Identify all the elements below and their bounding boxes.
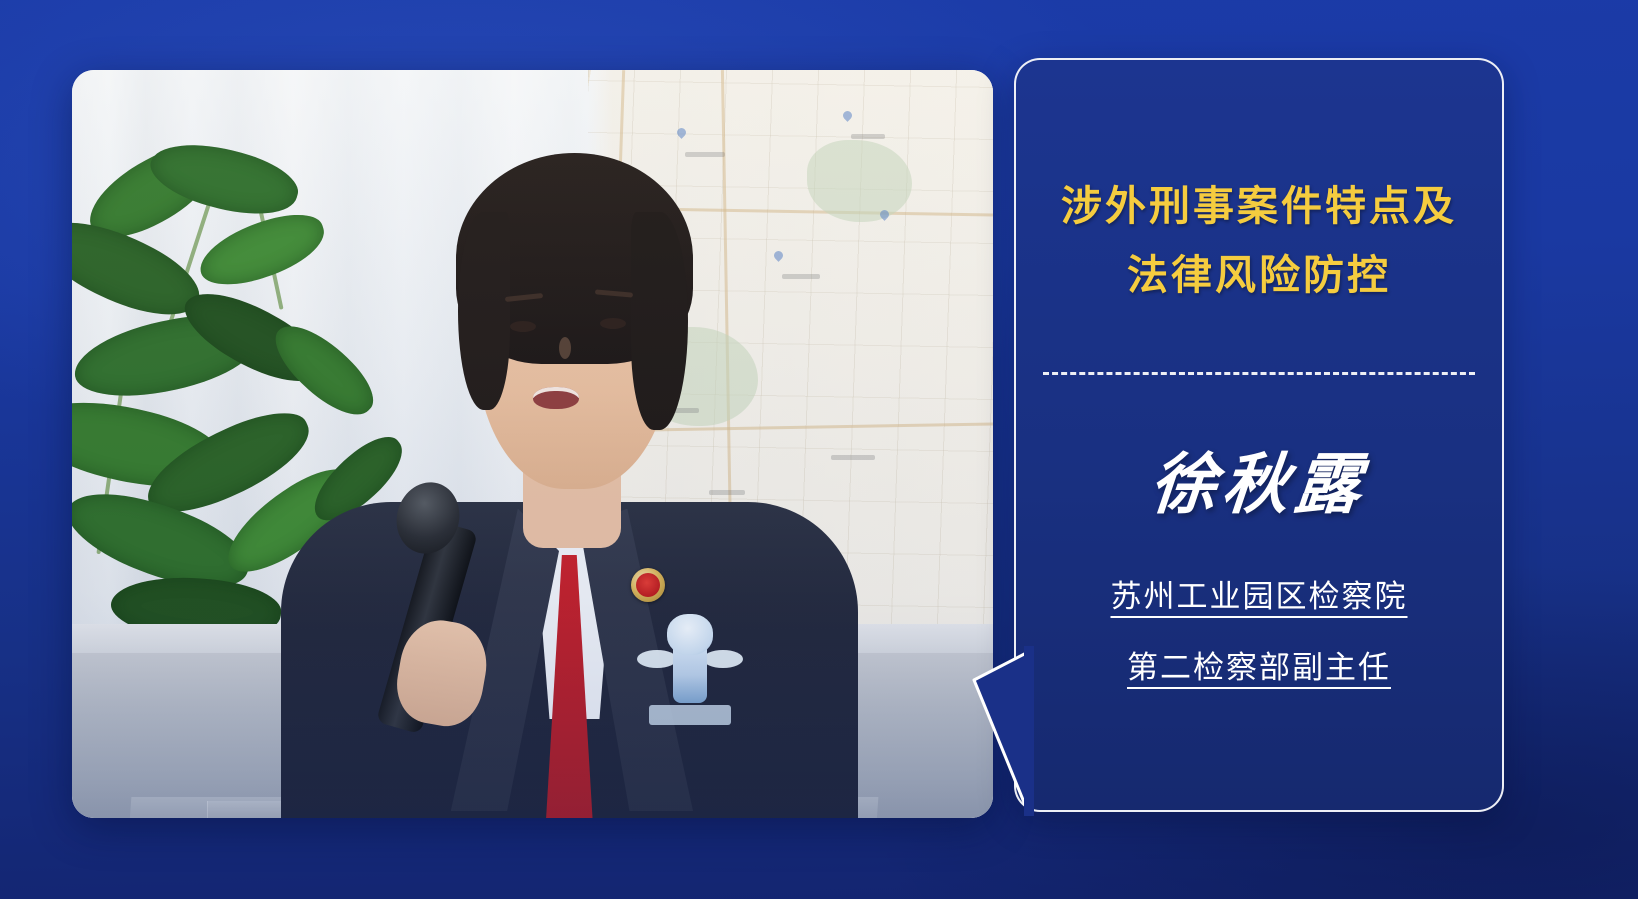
speaker-name: 徐秋露 (1147, 431, 1371, 527)
speaker-info-card: 涉外刑事案件特点及 法律风险防控 徐秋露 苏州工业园区检察院 第二检察部副主任 (1014, 58, 1504, 812)
dashed-divider (1043, 372, 1475, 375)
speaker-photo (72, 70, 993, 818)
speaker-role: 第二检察部副主任 (1127, 642, 1391, 687)
presentation-title: 涉外刑事案件特点及 法律风险防控 (1061, 172, 1457, 310)
speaker-affiliation: 苏州工业园区检察院 (1111, 571, 1408, 616)
photo-color-grade (72, 70, 993, 818)
presentation-title-line1: 涉外刑事案件特点及 (1061, 172, 1457, 241)
presentation-title-line2: 法律风险防控 (1061, 241, 1457, 310)
